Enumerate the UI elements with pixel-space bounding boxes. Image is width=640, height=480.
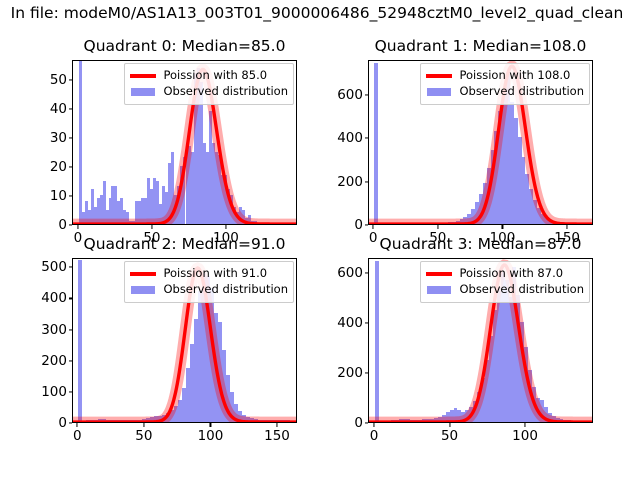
x-tick-mark: [567, 225, 568, 229]
x-tick-label: 0: [73, 428, 82, 444]
subplot-quadrant-3: Quadrant 3: Median=87.0 Poission with 87…: [368, 258, 593, 423]
legend-row-bars: Observed distribution: [130, 282, 288, 298]
legend-row-curve: Poission with 87.0: [426, 266, 584, 282]
y-tick-mark: [365, 138, 369, 139]
x-tick-label: 50: [135, 428, 152, 444]
y-tick-label: 0: [58, 415, 67, 431]
legend-patch-swatch-icon: [426, 85, 452, 99]
y-tick-mark: [69, 138, 73, 139]
legend-row-bars: Observed distribution: [130, 84, 288, 100]
y-tick-label: 200: [41, 353, 67, 369]
legend-patch-swatch-icon: [130, 283, 156, 297]
y-tick-mark: [69, 196, 73, 197]
x-tick-mark: [77, 225, 78, 229]
y-tick-mark: [69, 391, 73, 392]
subplot-title-quadrant-0: Quadrant 0: Median=85.0: [72, 37, 297, 55]
y-tick-mark: [365, 422, 369, 423]
legend-label-bars: Observed distribution: [459, 86, 584, 98]
x-tick-label: 100: [198, 428, 224, 444]
x-tick-label: 150: [264, 428, 290, 444]
subplot-title-quadrant-3: Quadrant 3: Median=87.0: [368, 235, 593, 253]
y-tick-label: 0: [354, 415, 363, 431]
legend-row-curve: Poission with 108.0: [426, 68, 584, 84]
y-tick-mark: [365, 224, 369, 225]
legend-label-curve: Poission with 85.0: [163, 70, 267, 82]
y-tick-label: 300: [41, 322, 67, 338]
subplot-title-quadrant-1: Quadrant 1: Median=108.0: [368, 37, 593, 55]
legend-quadrant-0: Poission with 85.0 Observed distribution: [124, 63, 294, 105]
x-tick-mark: [77, 423, 78, 427]
y-tick-label: 600: [337, 265, 363, 281]
x-tick-mark: [373, 225, 374, 229]
subplot-quadrant-1: Quadrant 1: Median=108.0 Poission with 1…: [368, 60, 593, 225]
legend-row-bars: Observed distribution: [426, 84, 584, 100]
subplot-quadrant-0: Quadrant 0: Median=85.0 Poission with 85…: [72, 60, 297, 225]
x-tick-mark: [437, 225, 438, 229]
legend-label-curve: Poission with 108.0: [459, 70, 570, 82]
legend-label-bars: Observed distribution: [163, 284, 288, 296]
figure-suptitle: In file: modeM0/AS1A13_003T01_9000006486…: [0, 2, 640, 26]
y-tick-label: 600: [337, 87, 363, 103]
y-tick-label: 50: [50, 72, 67, 88]
y-tick-label: 100: [41, 384, 67, 400]
y-tick-label: 30: [50, 130, 67, 146]
y-tick-mark: [69, 267, 73, 268]
y-tick-mark: [365, 94, 369, 95]
legend-row-bars: Observed distribution: [426, 282, 584, 298]
y-tick-mark: [365, 272, 369, 273]
y-tick-mark: [69, 109, 73, 110]
legend-line-swatch-icon: [130, 69, 156, 83]
legend-quadrant-3: Poission with 87.0 Observed distribution: [420, 261, 590, 303]
x-tick-mark: [143, 423, 144, 427]
legend-line-swatch-icon: [426, 69, 452, 83]
x-tick-label: 0: [370, 428, 379, 444]
y-tick-mark: [69, 167, 73, 168]
y-tick-label: 400: [337, 130, 363, 146]
x-tick-mark: [373, 423, 374, 427]
subplot-title-quadrant-2: Quadrant 2: Median=91.0: [72, 235, 297, 253]
y-tick-label: 400: [41, 290, 67, 306]
legend-line-swatch-icon: [426, 267, 452, 281]
legend-patch-swatch-icon: [426, 283, 452, 297]
figure-suptitle-text: In file: modeM0/AS1A13_003T01_9000006486…: [11, 2, 624, 24]
legend-label-curve: Poission with 87.0: [459, 268, 563, 280]
legend-label-bars: Observed distribution: [163, 86, 288, 98]
legend-patch-swatch-icon: [130, 85, 156, 99]
x-tick-label: 50: [441, 428, 458, 444]
legend-label-bars: Observed distribution: [459, 284, 584, 296]
y-tick-label: 200: [337, 174, 363, 190]
y-tick-mark: [69, 224, 73, 225]
x-tick-mark: [210, 423, 211, 427]
y-tick-label: 0: [58, 217, 67, 233]
y-tick-label: 10: [50, 188, 67, 204]
legend-quadrant-2: Poission with 91.0 Observed distribution: [124, 261, 294, 303]
x-tick-mark: [276, 423, 277, 427]
y-tick-mark: [69, 298, 73, 299]
y-tick-label: 500: [41, 259, 67, 275]
y-tick-mark: [69, 422, 73, 423]
y-tick-mark: [365, 372, 369, 373]
legend-label-curve: Poission with 91.0: [163, 268, 267, 280]
legend-row-curve: Poission with 91.0: [130, 266, 288, 282]
y-tick-mark: [69, 80, 73, 81]
y-tick-mark: [365, 322, 369, 323]
x-tick-mark: [525, 423, 526, 427]
x-tick-mark: [502, 225, 503, 229]
x-tick-label: 100: [512, 428, 538, 444]
y-tick-mark: [365, 181, 369, 182]
y-tick-label: 200: [337, 365, 363, 381]
matplotlib-figure: In file: modeM0/AS1A13_003T01_9000006486…: [0, 0, 640, 480]
legend-quadrant-1: Poission with 108.0 Observed distributio…: [420, 63, 590, 105]
y-tick-label: 40: [50, 101, 67, 117]
y-tick-mark: [69, 329, 73, 330]
subplot-quadrant-2: Quadrant 2: Median=91.0 Poission with 91…: [72, 258, 297, 423]
y-tick-label: 20: [50, 159, 67, 175]
x-tick-mark: [225, 225, 226, 229]
y-tick-label: 400: [337, 315, 363, 331]
legend-line-swatch-icon: [130, 267, 156, 281]
legend-row-curve: Poission with 85.0: [130, 68, 288, 84]
y-tick-mark: [69, 360, 73, 361]
x-tick-mark: [151, 225, 152, 229]
x-tick-mark: [449, 423, 450, 427]
y-tick-label: 0: [354, 217, 363, 233]
